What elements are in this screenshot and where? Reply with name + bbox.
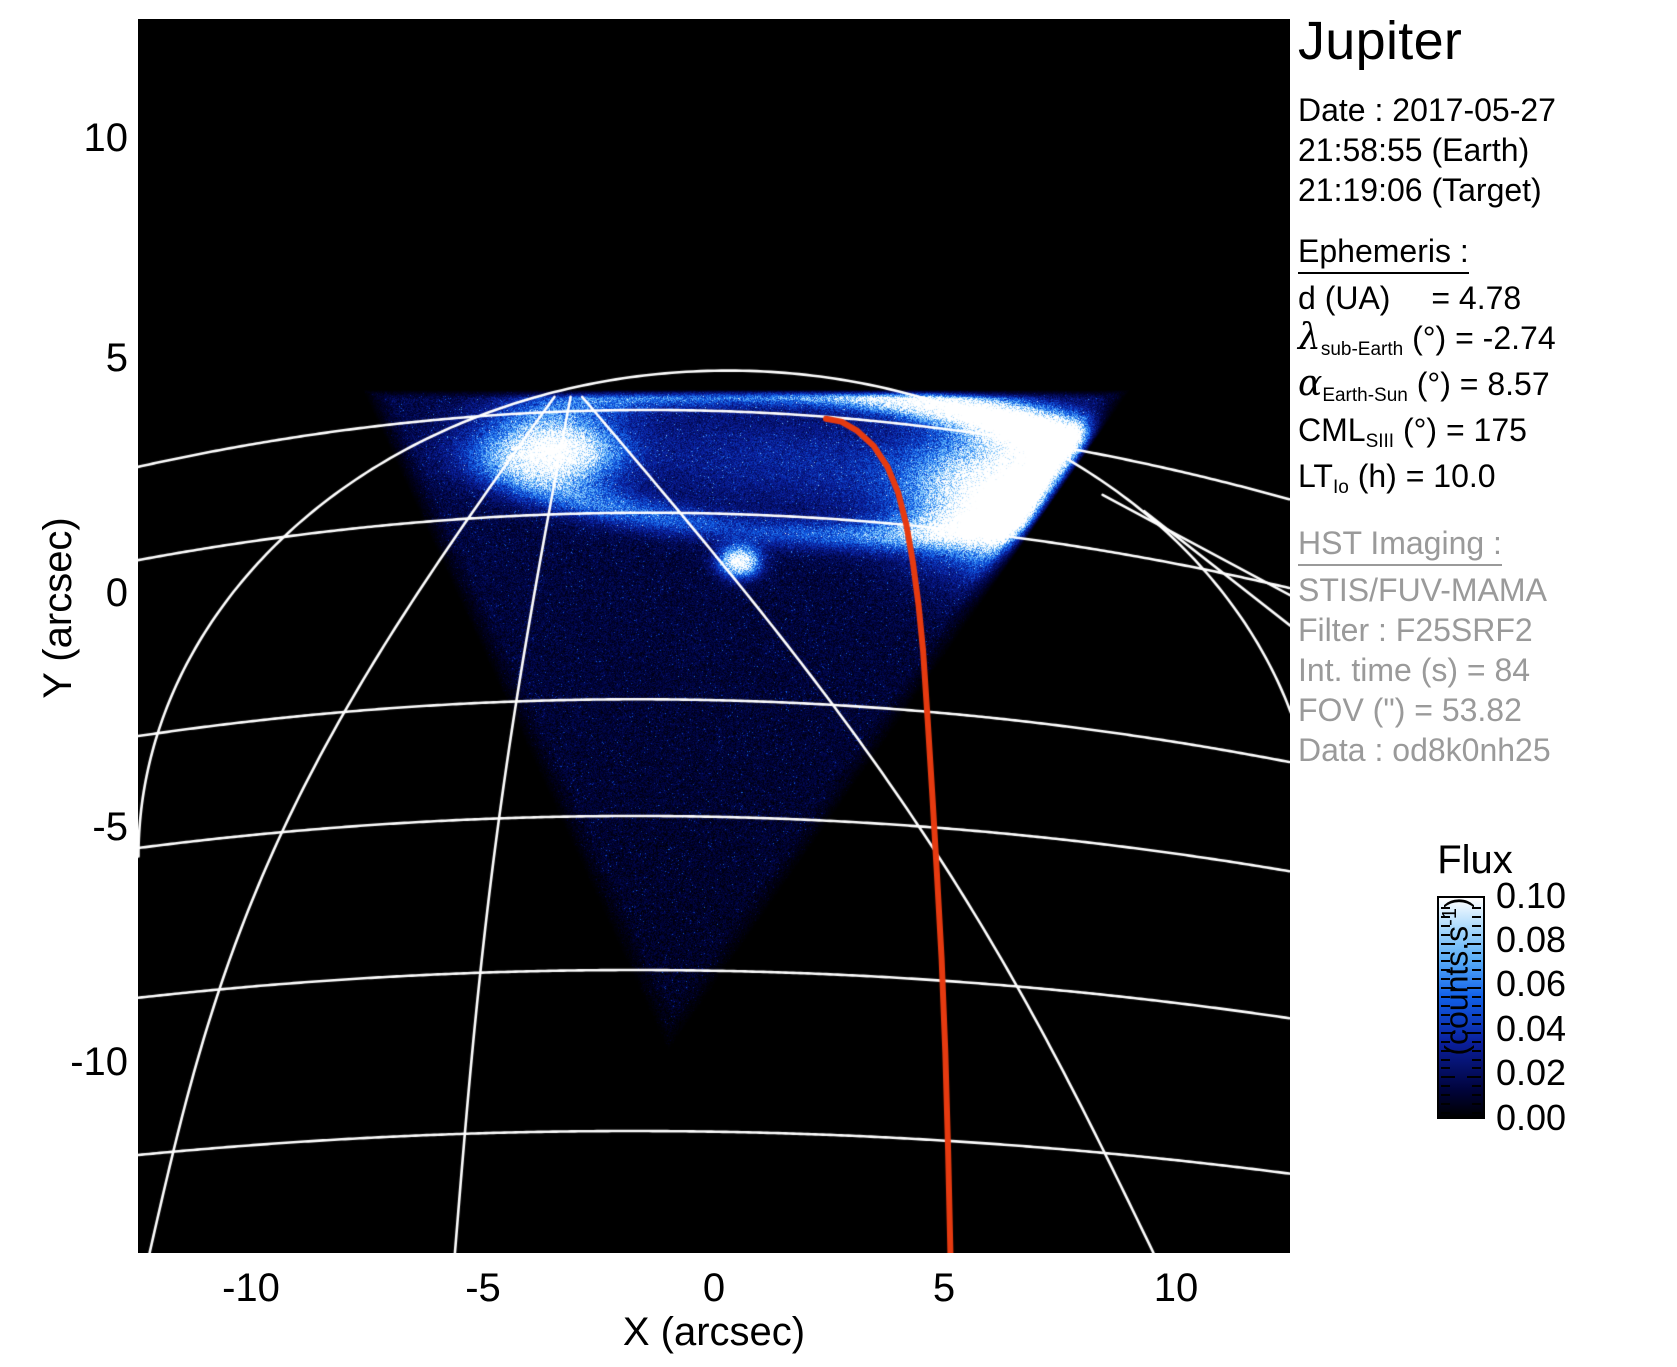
ytick-neg5: -5 bbox=[18, 807, 128, 847]
colorbar-unit-exponent: -1 bbox=[1439, 908, 1461, 926]
ephemeris-sub-alpha: Earth-Sun bbox=[1322, 385, 1408, 406]
ephemeris-symbol-distance: d (UA) bbox=[1298, 280, 1390, 316]
colorbar-unit-prefix: (counts.s bbox=[1439, 926, 1475, 1056]
colorbar-tick-010: 0.10 bbox=[1496, 878, 1566, 914]
colorbar-tick-000: 0.00 bbox=[1496, 1100, 1566, 1136]
xtick-5: 5 bbox=[884, 1268, 1004, 1308]
aurora-image-plot bbox=[138, 19, 1290, 1253]
ephemeris-row-io-local-time: LTIo (h) = 10.0 bbox=[1298, 456, 1670, 502]
ytick-10: 10 bbox=[18, 118, 128, 158]
colorbar-minor-tick bbox=[1441, 1112, 1450, 1114]
ephemeris-unit-alpha: (°) bbox=[1417, 366, 1451, 402]
ephemeris-symbol-cml: CML bbox=[1298, 412, 1366, 448]
observation-time-target: 21:19:06 (Target) bbox=[1298, 170, 1670, 210]
observation-date: Date : 2017-05-27 bbox=[1298, 90, 1670, 130]
observation-info-panel: Jupiter Date : 2017-05-27 21:58:55 (Eart… bbox=[1298, 10, 1670, 770]
ephemeris-row-distance: d (UA) = 4.78 bbox=[1298, 278, 1670, 318]
ephemeris-row-sub-earth-lat: λsub-Earth (°) = -2.74 bbox=[1298, 318, 1670, 364]
hst-imaging-section: HST Imaging : STIS/FUV-MAMA Filter : F25… bbox=[1298, 524, 1670, 770]
hst-integration-time: Int. time (s) = 84 bbox=[1298, 650, 1670, 690]
hst-filter: Filter : F25SRF2 bbox=[1298, 610, 1670, 650]
ephemeris-unit-lambda: (°) bbox=[1412, 320, 1446, 356]
ephemeris-value-cml: = 175 bbox=[1446, 412, 1527, 448]
ephemeris-unit-lt: (h) bbox=[1358, 458, 1397, 494]
ephemeris-value-lambda: = -2.74 bbox=[1455, 320, 1556, 356]
hst-dataset-id: Data : od8k0nh25 bbox=[1298, 730, 1670, 770]
colorbar-tick-008: 0.08 bbox=[1496, 922, 1566, 958]
page-title: Jupiter bbox=[1298, 10, 1670, 72]
ephemeris-symbol-lambda: λ bbox=[1298, 317, 1321, 358]
ephemeris-heading: Ephemeris : bbox=[1298, 232, 1469, 274]
ephemeris-section: Ephemeris : d (UA) = 4.78 λsub-Earth (°)… bbox=[1298, 232, 1670, 502]
colorbar-tick-002: 0.02 bbox=[1496, 1055, 1566, 1091]
colorbar-tick-006: 0.06 bbox=[1496, 966, 1566, 1002]
colorbar-minor-tick bbox=[1472, 1112, 1481, 1114]
xtick-10: 10 bbox=[1116, 1268, 1236, 1308]
ephemeris-value-lt: = 10.0 bbox=[1406, 458, 1496, 494]
ephemeris-row-cml: CMLSIII (°) = 175 bbox=[1298, 410, 1670, 456]
ephemeris-unit-cml: (°) bbox=[1403, 412, 1437, 448]
colorbar-unit-suffix: ) bbox=[1439, 897, 1475, 908]
xtick-neg10: -10 bbox=[191, 1268, 311, 1308]
ephemeris-sub-cml: SIII bbox=[1366, 431, 1395, 452]
ytick-neg10: -10 bbox=[18, 1042, 128, 1082]
xtick-0: 0 bbox=[654, 1268, 774, 1308]
colorbar-unit-label: (counts.s-1) bbox=[1439, 847, 1476, 1107]
ephemeris-symbol-lt: LT bbox=[1298, 458, 1333, 494]
flux-colorbar: Flux (counts.s-1) 0.10 0.08 0.06 0.04 0.… bbox=[1400, 838, 1640, 1238]
ephemeris-value-alpha: = 8.57 bbox=[1460, 366, 1550, 402]
ephemeris-value-distance: = 4.78 bbox=[1431, 280, 1521, 316]
jupiter-aurora-image bbox=[138, 19, 1290, 1253]
x-axis-label: X (arcsec) bbox=[414, 1310, 1014, 1355]
observation-time-earth: 21:58:55 (Earth) bbox=[1298, 130, 1670, 170]
ephemeris-row-phase-angle: αEarth-Sun (°) = 8.57 bbox=[1298, 364, 1670, 410]
panel-spacer-2 bbox=[1298, 502, 1670, 524]
ytick-5: 5 bbox=[18, 338, 128, 378]
hst-fov: FOV (") = 53.82 bbox=[1298, 690, 1670, 730]
panel-spacer-1 bbox=[1298, 210, 1670, 232]
hst-imaging-heading: HST Imaging : bbox=[1298, 524, 1502, 566]
colorbar-tick-004: 0.04 bbox=[1496, 1011, 1566, 1047]
xtick-neg5: -5 bbox=[423, 1268, 543, 1308]
y-axis-label: Y (arcsec) bbox=[38, 458, 78, 758]
ephemeris-sub-lambda: sub-Earth bbox=[1321, 339, 1403, 360]
ephemeris-symbol-alpha: α bbox=[1298, 363, 1322, 404]
hst-instrument: STIS/FUV-MAMA bbox=[1298, 570, 1670, 610]
ephemeris-sub-lt: Io bbox=[1333, 477, 1349, 498]
